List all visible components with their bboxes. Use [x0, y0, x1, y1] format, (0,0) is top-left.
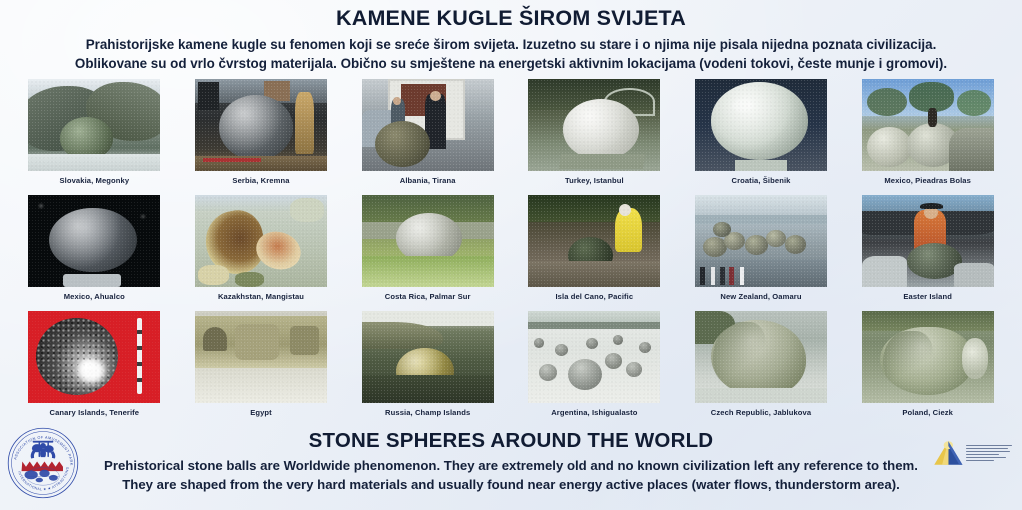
photo-new-zealand-oamaru[interactable]	[695, 195, 827, 287]
footer-title: STONE SPHERES AROUND THE WORLD	[18, 429, 1004, 453]
photo-albania-tirana[interactable]	[362, 79, 494, 171]
logo-text-line	[966, 457, 1006, 459]
footer-text-english: Prehistorical stone balls are Worldwide …	[18, 456, 1004, 494]
photo-texture	[862, 79, 994, 171]
photo-caption: Isla del Cano, Pacific	[555, 292, 633, 301]
photo-caption: Easter Island	[903, 292, 952, 301]
photo-czech-republic-jablukova[interactable]	[695, 311, 827, 403]
gallery-item[interactable]: Slovakia, Megonky	[14, 79, 175, 195]
poster-root: KAMENE KUGLE ŠIROM SVIJETA Prahistorijsk…	[0, 0, 1022, 510]
photo-texture	[528, 311, 660, 403]
gallery-item[interactable]: Serbia, Kremna	[181, 79, 342, 195]
header: KAMENE KUGLE ŠIROM SVIJETA Prahistorijsk…	[0, 0, 1022, 73]
logo-text-block	[966, 445, 1012, 462]
photo-texture	[695, 79, 827, 171]
gallery-item[interactable]: Russia, Champ Islands	[347, 311, 508, 427]
gallery-item[interactable]: Croatia, Šibenik	[681, 79, 842, 195]
photo-texture	[528, 195, 660, 287]
gallery-item[interactable]: Kazakhstan, Mangistau	[181, 195, 342, 311]
photo-easter-island[interactable]	[862, 195, 994, 287]
logo-text-line	[966, 454, 999, 456]
iaapa-logo: ASSOCIATION OF AMUSEMENT PARKS INTERNATI…	[6, 426, 80, 500]
photo-texture	[362, 79, 494, 171]
gallery-item[interactable]: New Zealand, Oamaru	[681, 195, 842, 311]
photo-caption: Croatia, Šibenik	[731, 176, 790, 185]
photo-caption: Albania, Tirana	[400, 176, 456, 185]
logo-text-line	[966, 451, 1010, 453]
photo-texture	[195, 311, 327, 403]
photo-argentina-ishigualasto[interactable]	[528, 311, 660, 403]
gallery-item[interactable]: Poland, Ciezk	[847, 311, 1008, 427]
photo-grid: Slovakia, Megonky Serbia, Kremna	[0, 79, 1022, 427]
gallery-item[interactable]: Costa Rica, Palmar Sur	[347, 195, 508, 311]
photo-caption: Canary Islands, Tenerife	[50, 408, 140, 417]
subtitle-line-1: Prahistorijske kamene kugle su fenomen k…	[18, 35, 1004, 54]
photo-serbia-kremna[interactable]	[195, 79, 327, 171]
photo-texture	[862, 195, 994, 287]
footer-line-2: They are shaped from the very hard mater…	[18, 475, 1004, 494]
footer-line-1: Prehistorical stone balls are Worldwide …	[18, 456, 1004, 475]
photo-caption: New Zealand, Oamaru	[720, 292, 801, 301]
photo-kazakhstan-mangistau[interactable]	[195, 195, 327, 287]
photo-caption: Mexico, Ahualco	[64, 292, 125, 301]
photo-poland-ciezk[interactable]	[862, 311, 994, 403]
gallery-item[interactable]: Mexico, Pieadras Bolas	[847, 79, 1008, 195]
subtitle-line-2: Oblikovane su od vrlo čvrstog materijala…	[18, 54, 1004, 73]
photo-texture	[695, 311, 827, 403]
footer: STONE SPHERES AROUND THE WORLD Prehistor…	[0, 429, 1022, 494]
photo-caption: Argentina, Ishigualasto	[551, 408, 637, 417]
photo-texture	[528, 79, 660, 171]
logo-text-line	[966, 460, 994, 462]
gallery-item[interactable]: Easter Island	[847, 195, 1008, 311]
gallery-item[interactable]: Isla del Cano, Pacific	[514, 195, 675, 311]
photo-isla-del-cano-pacific[interactable]	[528, 195, 660, 287]
photo-texture	[362, 195, 494, 287]
page-title: KAMENE KUGLE ŠIROM SVIJETA	[18, 6, 1004, 31]
photo-caption: Costa Rica, Palmar Sur	[385, 292, 471, 301]
gallery-item[interactable]: Albania, Tirana	[347, 79, 508, 195]
photo-texture	[362, 311, 494, 403]
photo-russia-champ-islands[interactable]	[362, 311, 494, 403]
photo-caption: Kazakhstan, Mangistau	[218, 292, 304, 301]
pyramid-icon	[928, 437, 964, 469]
gallery-item[interactable]: Turkey, Istanbul	[514, 79, 675, 195]
subtitle-croatian: Prahistorijske kamene kugle su fenomen k…	[18, 35, 1004, 73]
photo-caption: Russia, Champ Islands	[385, 408, 470, 417]
logo-text-line	[966, 448, 1008, 450]
gallery-item[interactable]: Egypt	[181, 311, 342, 427]
gallery-item[interactable]: Canary Islands, Tenerife	[14, 311, 175, 427]
photo-caption: Czech Republic, Jablukova	[711, 408, 811, 417]
gallery-item[interactable]: Czech Republic, Jablukova	[681, 311, 842, 427]
logo-text-line	[966, 445, 1012, 447]
photo-costa-rica-palmar-sur[interactable]	[362, 195, 494, 287]
photo-caption: Mexico, Pieadras Bolas	[884, 176, 971, 185]
photo-turkey-istanbul[interactable]	[528, 79, 660, 171]
photo-caption: Egypt	[250, 408, 272, 417]
pyramid-logo	[928, 436, 1012, 470]
photo-slovakia-megonky[interactable]	[28, 79, 160, 171]
photo-texture	[195, 79, 327, 171]
photo-texture	[695, 195, 827, 287]
photo-texture	[28, 195, 160, 287]
photo-caption: Turkey, Istanbul	[565, 176, 624, 185]
photo-mexico-ahualco[interactable]	[28, 195, 160, 287]
photo-texture	[862, 311, 994, 403]
gallery-item[interactable]: Argentina, Ishigualasto	[514, 311, 675, 427]
photo-caption: Slovakia, Megonky	[60, 176, 130, 185]
photo-mexico-pieadras-bolas[interactable]	[862, 79, 994, 171]
photo-caption: Serbia, Kremna	[232, 176, 289, 185]
photo-egypt[interactable]	[195, 311, 327, 403]
photo-canary-islands-tenerife[interactable]	[28, 311, 160, 403]
photo-texture	[28, 79, 160, 171]
gallery-item[interactable]: Mexico, Ahualco	[14, 195, 175, 311]
photo-texture	[28, 311, 160, 403]
photo-texture	[195, 195, 327, 287]
photo-croatia-sibenik[interactable]	[695, 79, 827, 171]
photo-caption: Poland, Ciezk	[902, 408, 953, 417]
